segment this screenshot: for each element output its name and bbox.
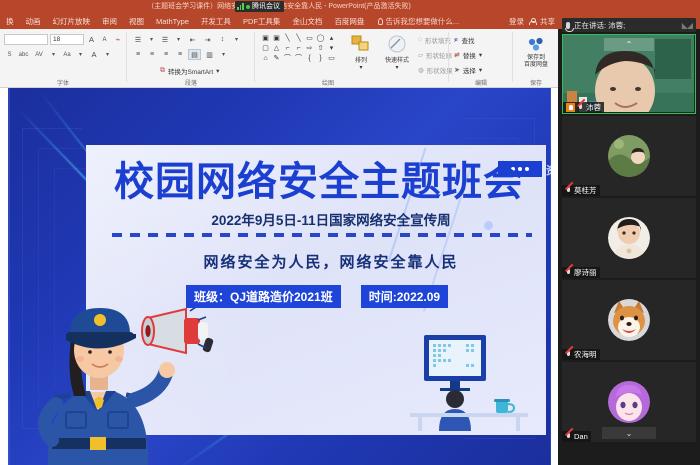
shape-oval-icon[interactable]: ◯: [315, 33, 326, 43]
ribbon-group-editing: ⌕ 查找 ⇄ 替换 ▾ ➤ 选择 ▾ 编辑: [452, 29, 510, 88]
shape-arc-icon[interactable]: ⌒: [282, 53, 293, 63]
class-pill[interactable]: 班级：QJ道路造价2021班: [186, 285, 341, 308]
microphone-icon: [577, 103, 584, 112]
tab-transitions[interactable]: 换: [0, 14, 20, 29]
ribbon-group-paragraph: ☰ ▾ ☰ ▾ ⇤ ⇥ ↕ ▾ ≡ ≡ ≡ ≡ ▤ ▥ ▾: [130, 29, 252, 88]
share-person-icon: [529, 18, 535, 25]
lightbulb-icon: [378, 18, 383, 25]
muted-microphone-icon: [565, 186, 572, 195]
application-window: （主题班会学习课件）网络安全为人民，网络安全靠人民 - PowerPoint(产…: [0, 0, 700, 465]
arrange-button[interactable]: 排列 ▾: [344, 33, 378, 71]
avatar: [608, 299, 650, 341]
avatar: [608, 381, 650, 423]
shape-triangle-icon[interactable]: △: [271, 43, 282, 53]
meeting-badge-label: 腾讯会议: [252, 1, 280, 12]
microphone-icon: [566, 22, 570, 29]
muted-microphone-icon: [565, 350, 572, 359]
replace-icon: ⇄: [454, 51, 460, 59]
quick-styles-label: 快速样式: [385, 55, 409, 64]
case-dropdown-arrow-icon[interactable]: ▾: [75, 49, 86, 60]
increase-indent-icon[interactable]: ⇥: [201, 34, 214, 45]
ribbon-body: 18 A A ⌁ S abc AV ▾ Aa ▾ A ▾ 字体: [0, 29, 558, 88]
powerpoint-window: （主题班会学习课件）网络安全为人民，网络安全靠人民 - PowerPoint(产…: [0, 0, 558, 465]
shape-gallery[interactable]: ▣ ▣ ╲ ╲ ▭ ◯ ▴ ▢ △ ⌐ ⌐ ⇨ ⇧ ▾ ⌂ ✎ ⌒: [260, 33, 337, 63]
shape-textbox-icon[interactable]: ▣: [260, 33, 271, 43]
shape-effects-icon: ◍: [418, 66, 424, 74]
bullets-dropdown-arrow-icon[interactable]: ▾: [146, 34, 157, 45]
status-dot-icon: [246, 5, 250, 9]
shape-rect-icon[interactable]: ▭: [304, 33, 315, 43]
font-name-input[interactable]: [4, 34, 48, 45]
title-bar: （主题班会学习课件）网络安全为人民，网络安全靠人民 - PowerPoint(产…: [0, 0, 558, 14]
group-label-editing: 编辑: [452, 78, 510, 87]
shape-arrow-icon[interactable]: ╲: [293, 33, 304, 43]
convert-to-smartart-button[interactable]: 转换为SmartArt: [168, 66, 213, 76]
select-button[interactable]: 选择: [463, 65, 476, 75]
spacing-dropdown-arrow-icon[interactable]: ▾: [48, 49, 59, 60]
shape-gallery-scroll-down-icon[interactable]: ▾: [326, 43, 337, 53]
ribbon-group-drawing: ▣ ▣ ╲ ╲ ▭ ◯ ▴ ▢ △ ⌐ ⌐ ⇨ ⇧ ▾ ⌂ ✎ ⌒: [258, 29, 446, 88]
ribbon-tab-strip: 换 动画 幻灯片放映 审阅 视图 MathType 开发工具 PDF工具集 金山…: [0, 14, 558, 29]
quick-styles-button[interactable]: 快速样式 ▾: [380, 33, 414, 71]
select-dropdown-arrow-icon[interactable]: ▾: [479, 66, 482, 74]
select-icon: ➤: [454, 66, 460, 74]
font-size-input[interactable]: 18: [50, 34, 84, 45]
align-right-icon[interactable]: ≡: [160, 49, 172, 60]
scroll-down-chevron-button[interactable]: ⌄: [602, 427, 656, 439]
group-label-font: 字体: [2, 78, 124, 87]
shape-roundrect-icon[interactable]: ▢: [260, 43, 271, 53]
shape-brace-right-icon[interactable]: }: [315, 53, 326, 63]
shape-fill-icon: ◌: [418, 36, 422, 43]
quick-styles-icon: [386, 33, 408, 55]
participant-tile[interactable]: 莫桂芳: [562, 116, 696, 196]
participant-label: 莫桂芳: [562, 185, 600, 196]
avatar: [608, 217, 650, 259]
shape-fill-button[interactable]: 形状填充: [425, 35, 451, 45]
shape-arrow-up-icon[interactable]: ⇧: [315, 43, 326, 53]
save-to-baidu-label-line1: 保存到: [527, 55, 545, 61]
current-slide[interactable]: 资 校园网络安全主题班会 2022年9月5日-11日国家网络安全宣传周 网络安全…: [8, 88, 551, 465]
line-spacing-icon[interactable]: ↕: [216, 34, 229, 45]
tab-kingsoft-docs[interactable]: 金山文档: [286, 14, 328, 29]
corner-decoration-text: 资: [546, 162, 551, 178]
decrease-indent-icon[interactable]: ⇤: [186, 34, 199, 45]
replace-dropdown-arrow-icon[interactable]: ▾: [479, 51, 482, 59]
arrange-icon: [351, 33, 371, 55]
muted-microphone-icon: [565, 432, 572, 441]
tab-developer[interactable]: 开发工具: [195, 14, 237, 29]
megaphone-icon: [140, 308, 216, 360]
avatar: [608, 135, 650, 177]
numbering-dropdown-arrow-icon[interactable]: ▾: [173, 34, 184, 45]
participant-name: 莫桂芳: [574, 185, 597, 196]
font-color-button[interactable]: A: [88, 49, 100, 60]
group-label-paragraph: 段落: [130, 78, 252, 87]
participant-name: 沛蓉: [586, 102, 601, 113]
group-divider: [126, 32, 127, 82]
tell-me-label: 告诉我您想要做什么...: [385, 16, 459, 27]
ribbon-group-save: 保存到 百度网盘 保存: [514, 29, 558, 88]
participant-tile[interactable]: Dan ⌄: [562, 362, 696, 442]
shape-curve2-icon[interactable]: ⌒: [293, 53, 304, 63]
participant-name: 农海明: [574, 349, 597, 360]
shape-scribble-icon[interactable]: ✎: [271, 53, 282, 63]
tencent-meeting-floating-badge[interactable]: 腾讯会议: [235, 1, 284, 12]
date-pill[interactable]: 时间:2022.09: [361, 285, 448, 308]
ribbon-group-font: 18 A A ⌁ S abc AV ▾ Aa ▾ A ▾ 字体: [2, 29, 124, 88]
columns-icon[interactable]: ▤: [188, 49, 201, 60]
tab-mathtype[interactable]: MathType: [150, 14, 195, 29]
strikethrough-button[interactable]: S: [4, 49, 15, 60]
bulleted-list-icon[interactable]: ☰: [132, 34, 144, 45]
participant-tile[interactable]: 廖诗丽: [562, 198, 696, 278]
participant-label: Dan: [562, 431, 591, 442]
replace-button[interactable]: 替换: [463, 50, 476, 60]
numbered-list-icon[interactable]: ☰: [159, 34, 171, 45]
shape-freeform-icon[interactable]: ⌂: [260, 53, 271, 63]
muted-microphone-icon: [565, 268, 572, 277]
participant-label: 廖诗丽: [562, 267, 600, 278]
sign-in-button[interactable]: 登录: [509, 16, 524, 27]
save-to-baidu-label-line2: 百度网盘: [524, 62, 548, 68]
participant-tile[interactable]: 农海明: [562, 280, 696, 360]
dashed-divider: [112, 233, 532, 237]
arrange-label: 排列: [355, 55, 367, 64]
slide-title[interactable]: 校园网络安全主题班会: [114, 159, 544, 205]
participant-name: Dan: [574, 432, 588, 441]
shape-brace-left-icon[interactable]: {: [304, 53, 315, 63]
find-button[interactable]: 查找: [461, 35, 474, 45]
tell-me-box[interactable]: 告诉我您想要做什么...: [370, 16, 459, 27]
active-speaker-label: 正在讲话: 沛蓉;: [574, 20, 625, 31]
change-case-button[interactable]: Aa: [61, 49, 73, 60]
shape-gallery-expand-icon[interactable]: ▭: [326, 53, 337, 63]
participant-tile[interactable]: ⌃ 沛蓉: [562, 34, 696, 114]
tab-view[interactable]: 视图: [123, 14, 150, 29]
tab-pdf-tools[interactable]: PDF工具集: [237, 14, 287, 29]
character-spacing-button[interactable]: AV: [32, 49, 46, 60]
shape-curve-icon[interactable]: ⌐: [293, 43, 304, 53]
slide-meta-row: 班级：QJ道路造价2021班 时间:2022.09: [186, 285, 516, 308]
slide-subtitle[interactable]: 2022年9月5日-11日国家网络安全宣传周: [166, 209, 496, 229]
participant-video-list[interactable]: ⌃ 沛蓉: [562, 34, 696, 458]
host-badge-icon: [566, 103, 575, 112]
grow-font-button[interactable]: A: [86, 34, 97, 45]
shape-gallery-scroll-up-icon[interactable]: ▴: [326, 33, 337, 43]
participant-name: 廖诗丽: [574, 267, 597, 278]
desk-computer-illustration: [410, 333, 528, 431]
line-spacing-dropdown-arrow-icon[interactable]: ▾: [231, 34, 242, 45]
group-divider: [254, 32, 255, 82]
tab-animations[interactable]: 动画: [20, 14, 47, 29]
police-officer-illustration: [30, 288, 200, 465]
audio-wave-icon: ◣◢: [682, 21, 692, 30]
font-color-dropdown-arrow-icon[interactable]: ▾: [102, 49, 113, 60]
tab-baidu-netdisk[interactable]: 百度网盘: [328, 14, 370, 29]
shrink-font-button[interactable]: A: [99, 34, 110, 45]
arrange-dropdown-arrow-icon[interactable]: ▾: [359, 64, 362, 71]
smartart-icon: ⧉: [160, 67, 165, 75]
share-button[interactable]: 共享: [540, 16, 555, 27]
tab-slideshow[interactable]: 幻灯片放映: [47, 14, 97, 29]
text-direction-dropdown-arrow-icon[interactable]: ▾: [218, 49, 229, 60]
shape-arrow-right-icon[interactable]: ⇨: [304, 43, 315, 53]
shape-line-icon[interactable]: ╲: [282, 33, 293, 43]
group-label-drawing: 绘图: [298, 78, 358, 87]
align-center-icon[interactable]: ≡: [146, 49, 158, 60]
window-right-controls: 登录 共享: [509, 14, 558, 29]
shape-elbow-icon[interactable]: ⌐: [282, 43, 293, 53]
tab-review[interactable]: 审阅: [96, 14, 123, 29]
shape-picture-icon[interactable]: ▣: [271, 33, 282, 43]
participant-label: 农海明: [562, 349, 600, 360]
group-divider: [448, 32, 449, 82]
find-icon: ⌕: [454, 35, 458, 45]
smartart-dropdown-arrow-icon[interactable]: ▾: [216, 67, 219, 75]
group-divider: [512, 32, 513, 82]
justify-icon[interactable]: ≡: [174, 49, 186, 60]
group-label-save: 保存: [514, 78, 558, 87]
baidu-netdisk-icon: [522, 33, 550, 55]
participant-label: 沛蓉: [563, 102, 604, 113]
collapse-chevron-up-button[interactable]: ⌃: [604, 38, 654, 51]
tencent-meeting-panel: 正在讲话: 沛蓉; ◣◢: [558, 0, 700, 465]
active-speaker-bar: 正在讲话: 沛蓉; ◣◢: [562, 18, 696, 32]
slide-canvas[interactable]: 资 校园网络安全主题班会 2022年9月5日-11日国家网络安全宣传周 网络安全…: [0, 88, 558, 465]
slide-slogan[interactable]: 网络安全为人民，网络安全靠人民: [146, 251, 516, 272]
align-left-icon[interactable]: ≡: [132, 49, 144, 60]
clear-formatting-icon[interactable]: ⌁: [112, 34, 124, 45]
shape-outline-icon: ▱: [418, 51, 423, 59]
signal-bars-icon: [237, 3, 244, 10]
save-to-baidu-button[interactable]: 保存到 百度网盘: [522, 33, 550, 69]
text-direction-icon[interactable]: ▥: [203, 49, 216, 60]
quick-styles-dropdown-arrow-icon[interactable]: ▾: [395, 64, 398, 71]
text-shadow-button[interactable]: abc: [17, 49, 30, 60]
